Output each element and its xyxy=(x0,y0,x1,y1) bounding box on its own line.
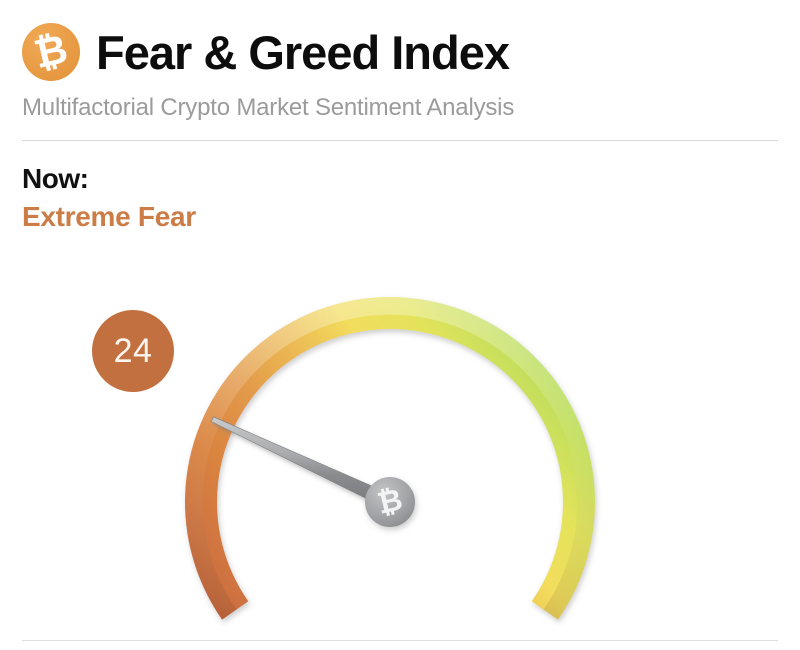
now-label: Now: xyxy=(22,163,196,195)
bitcoin-icon: ₿ xyxy=(22,23,80,81)
header-divider xyxy=(22,140,778,141)
title-row: ₿ Fear & Greed Index xyxy=(22,18,778,86)
widget-header: ₿ Fear & Greed Index Multifactorial Cryp… xyxy=(22,18,778,121)
footer-divider xyxy=(22,640,778,641)
gauge-container: ₿ xyxy=(0,236,800,626)
gauge-arc-highlight xyxy=(185,297,595,620)
gauge-arc-band xyxy=(185,297,595,620)
page-subtitle: Multifactorial Crypto Market Sentiment A… xyxy=(22,95,778,121)
current-status: Now: Extreme Fear xyxy=(22,163,196,233)
sentiment-label: Extreme Fear xyxy=(22,201,196,233)
gauge-hub: ₿ xyxy=(365,477,415,527)
gauge-value-text: 24 xyxy=(114,334,153,368)
fear-greed-index-widget: ₿ Fear & Greed Index Multifactorial Cryp… xyxy=(0,0,800,650)
bitcoin-glyph: ₿ xyxy=(16,17,86,87)
page-title: Fear & Greed Index xyxy=(96,29,509,76)
gauge-arc-group xyxy=(185,297,595,620)
gauge-chart: ₿ xyxy=(0,236,800,626)
gauge-value-badge: 24 xyxy=(92,310,174,392)
